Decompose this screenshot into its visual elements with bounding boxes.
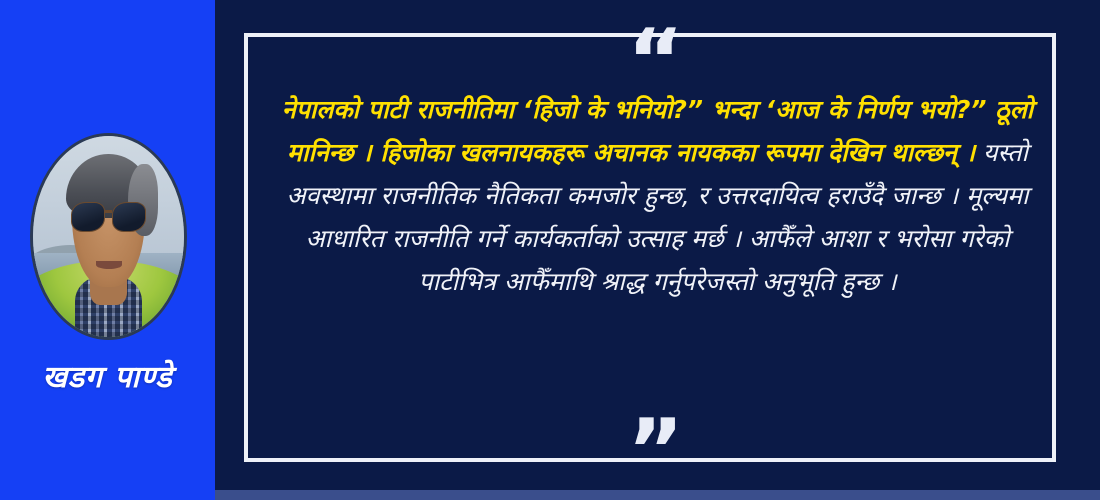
close-quote-icon: ” — [215, 408, 1100, 494]
author-name: खडग पाण्डे — [0, 355, 215, 396]
sunglasses-icon — [71, 202, 147, 232]
portrait-mouth — [96, 261, 122, 269]
avatar — [30, 133, 187, 340]
quote-highlighted-segment: नेपालको पाटी राजनीतिमा ‘हिजो के भनियो?” … — [282, 95, 1033, 167]
quote-panel: “ नेपालको पाटी राजनीतिमा ‘हिजो के भनियो?… — [215, 0, 1100, 500]
quote-text: नेपालको पाटी राजनीतिमा ‘हिजो के भनियो?” … — [275, 88, 1040, 303]
sunglasses-bridge — [105, 210, 113, 213]
sunglasses-left-lens — [71, 202, 106, 232]
sunglasses-right-lens — [112, 202, 147, 232]
author-sidebar: खडग पाण्डे — [0, 0, 215, 500]
avatar-portrait-image — [33, 136, 184, 337]
quote-card: खडग पाण्डे “ नेपालको पाटी राजनीतिमा ‘हिज… — [0, 0, 1100, 500]
bottom-accent-strip — [215, 490, 1100, 500]
